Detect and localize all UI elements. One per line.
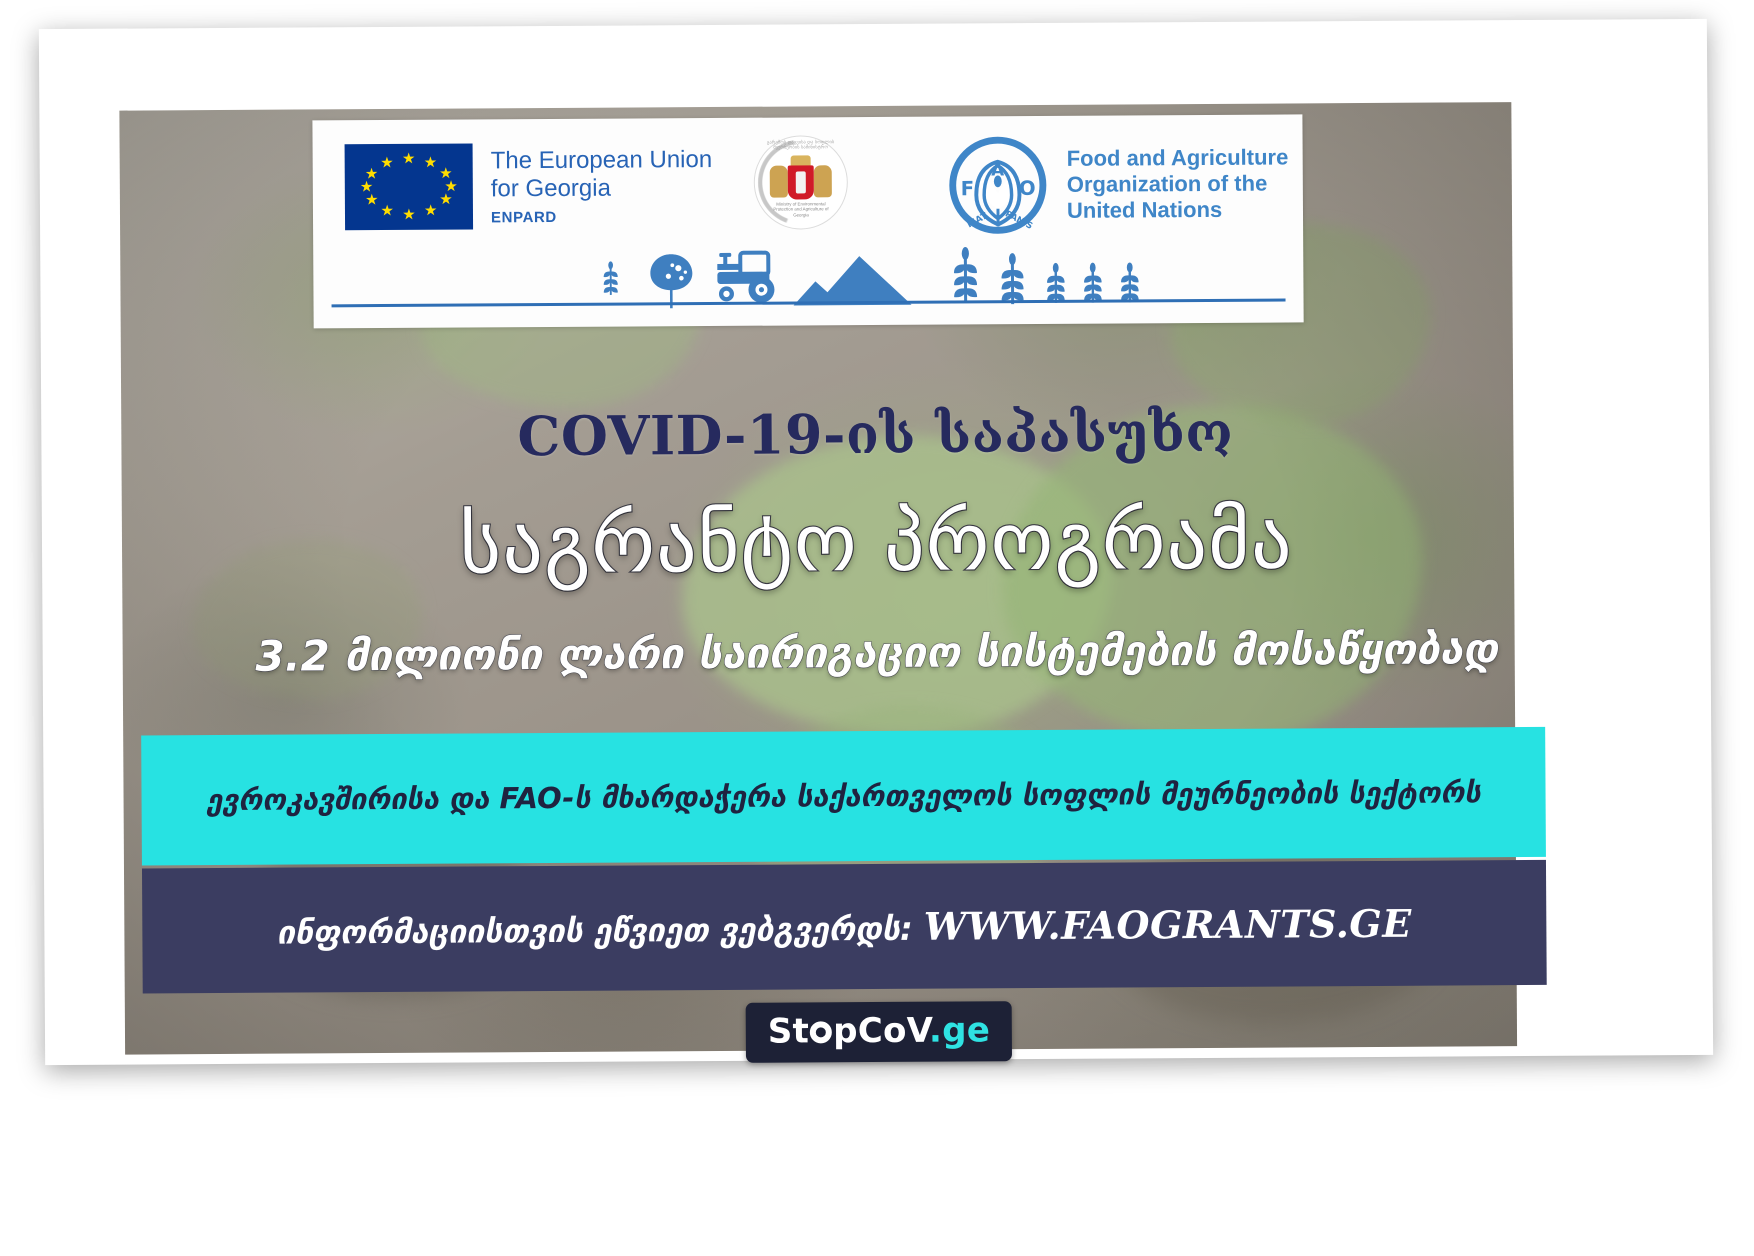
navy-band-text: ინფორმაციისთვის ეწვიეთ ვებგვერდს: WWW.FA… [253, 901, 1436, 953]
page-title-covid: COVID-19-ის საპასუხო [41, 397, 1709, 471]
navy-website-band[interactable]: ინფორმაციისთვის ეწვიეთ ვებგვერდს: WWW.FA… [142, 860, 1547, 994]
eu-logo: ★ ★ ★ ★ ★ ★ ★ ★ ★ ★ ★ ★ The European Uni… [345, 142, 713, 230]
mountain-icon [793, 256, 911, 306]
tree-icon [650, 254, 692, 308]
svg-text:O: O [1019, 177, 1036, 200]
fao-logo-line1: Food and Agriculture [1067, 144, 1289, 171]
eu-logo-enpard: ENPARD [491, 208, 713, 226]
logo-header-bar: ★ ★ ★ ★ ★ ★ ★ ★ ★ ★ ★ ★ The European Uni… [312, 114, 1303, 328]
stopcov-badge[interactable]: StpCoV.ge [746, 1001, 1013, 1063]
wheat-tall-2-icon [1001, 253, 1023, 304]
fao-emblem-icon: A F O FIAT PANIS [949, 136, 1048, 235]
wheat-tall-icon [954, 247, 977, 303]
svg-text:F: F [961, 177, 975, 200]
stopcov-o-icon [810, 1021, 832, 1043]
fao-logo-line2: Organization of the [1067, 170, 1289, 197]
eu-flag-icon: ★ ★ ★ ★ ★ ★ ★ ★ ★ ★ ★ ★ [345, 143, 474, 230]
subtitle-amount: 3.2 მილიონი ლარი საირიგაციო სისტემების მ… [43, 623, 1711, 682]
poster-sheet: ★ ★ ★ ★ ★ ★ ★ ★ ★ ★ ★ ★ The European Uni… [39, 19, 1713, 1065]
website-prefix-label: ინფორმაციისთვის ეწვიეთ ვებგვერდს: [277, 910, 913, 952]
fao-logo: A F O FIAT PANIS Food and Agriculture Or… [949, 134, 1289, 234]
seal-caption-english: Ministry of Environmental Protection and… [773, 201, 829, 218]
stopcov-part3: .ge [929, 1010, 990, 1050]
eu-logo-line1: The European Union [491, 146, 713, 175]
wheat-small-icon [604, 261, 618, 295]
tractor-icon [717, 253, 774, 303]
eu-logo-line2: for Georgia [491, 174, 713, 203]
stopcov-part1: St [768, 1011, 810, 1051]
agriculture-icon-strip [313, 230, 1304, 328]
wheat-short-3-icon [1121, 262, 1139, 302]
stopcov-part2: pCoV [833, 1011, 929, 1052]
seal-caption-georgian: გარემოს დაცვისა და სოფლის მეურნეობის სამ… [754, 140, 848, 151]
website-url-link[interactable]: WWW.FAOGRANTS.GE [924, 901, 1412, 949]
poster-slide: ★ ★ ★ ★ ★ ★ ★ ★ ★ ★ ★ ★ The European Uni… [0, 0, 1754, 1256]
fao-logo-line3: United Nations [1067, 196, 1289, 223]
page-title-grant-program: საგრანტო პროგრამა [42, 491, 1711, 594]
cyan-band-text: ევროკავშირისა და FAO-ს მხარდაჭერა საქართ… [178, 774, 1509, 818]
svg-text:A: A [991, 160, 1004, 179]
cyan-info-band: ევროკავშირისა და FAO-ს მხარდაჭერა საქართ… [141, 727, 1546, 866]
wheat-short-2-icon [1084, 263, 1102, 303]
wheat-short-icon [1047, 263, 1065, 303]
ministry-of-agriculture-seal-icon: გარემოს დაცვისა და სოფლის მეურნეობის სამ… [754, 135, 849, 230]
